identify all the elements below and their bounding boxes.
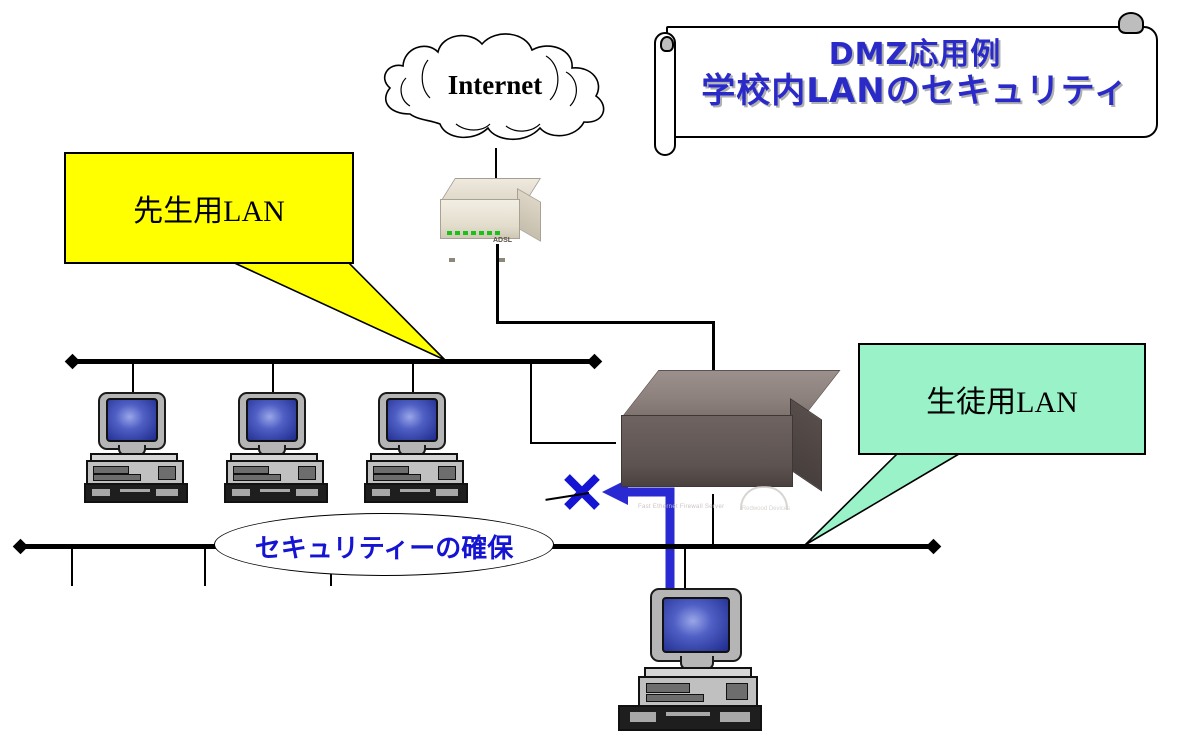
- router-led-2: [455, 231, 460, 235]
- firewall-front-face: Redwood Devices Fast Ethernet Firewall S…: [621, 415, 793, 487]
- link-router-across: [496, 321, 715, 324]
- scroll-left-roll-cap-icon: [660, 36, 674, 52]
- drop-student-pc: [684, 546, 686, 592]
- student-lan-callout: 生徒用LAN: [858, 343, 1146, 455]
- drive-bay-1: [373, 466, 409, 474]
- teacher-lan-bus: [72, 359, 595, 364]
- internet-cloud: Internet: [370, 26, 620, 156]
- cloud-label: Internet: [370, 70, 620, 101]
- router-front-face: ADSL: [440, 199, 520, 239]
- router-led-7: [495, 231, 500, 235]
- keyboard-keys-right: [296, 489, 318, 496]
- teacher-pc-2: [224, 392, 328, 500]
- link-router-down: [496, 244, 499, 324]
- drive-bay-1: [93, 466, 129, 474]
- drive-bay-2: [233, 474, 281, 481]
- router-foot-1: [449, 258, 455, 262]
- computer-case: [638, 676, 758, 708]
- drop-teacher-bus-to-firewall: [530, 360, 532, 444]
- monitor-screen: [246, 398, 298, 442]
- student-bus-drop-2: [204, 546, 206, 586]
- keyboard-keys-mid: [666, 712, 710, 716]
- teacher-callout-label: 先生用LAN: [64, 186, 354, 230]
- title-scroll-banner: DMZ応用例 学校内LANのセキュリティ: [652, 14, 1170, 152]
- drive-bay-2: [373, 474, 421, 481]
- firewall-appliance: Redwood Devices Fast Ethernet Firewall S…: [613, 370, 823, 495]
- keyboard: [364, 483, 468, 503]
- monitor-screen: [662, 597, 730, 653]
- drive-bay-2: [93, 474, 141, 481]
- drive-bay-3: [158, 466, 176, 480]
- keyboard-keys-right: [720, 712, 750, 722]
- teacher-pc-1: [84, 392, 188, 500]
- internet-router: ADSL: [430, 178, 540, 248]
- monitor-screen: [386, 398, 438, 442]
- student-callout-label: 生徒用LAN: [858, 377, 1146, 421]
- firewall-logo-label: Redwood Devices: [736, 506, 796, 512]
- keyboard-keys-right: [436, 489, 458, 496]
- security-note-bubble: セキュリティーの確保: [214, 513, 554, 576]
- teacher-bus-end-right: [587, 354, 603, 370]
- keyboard-keys-left: [232, 489, 250, 496]
- title-text-block: DMZ応用例 学校内LANのセキュリティ: [682, 38, 1148, 111]
- keyboard-keys-left: [372, 489, 390, 496]
- router-foot-2: [499, 258, 505, 262]
- router-side-face: [517, 188, 541, 242]
- drive-bay-3: [438, 466, 456, 480]
- router-led-6: [487, 231, 492, 235]
- link-firewall-to-student-bus: [712, 494, 714, 546]
- diagram-canvas: DMZ応用例 学校内LANのセキュリティ Internet: [0, 0, 1180, 740]
- drive-bay-1: [233, 466, 269, 474]
- title-line-2: 学校内LANのセキュリティ: [682, 72, 1148, 111]
- keyboard-keys-left: [92, 489, 110, 496]
- router-led-4: [471, 231, 476, 235]
- link-teacher-bus-into-firewall: [530, 442, 616, 444]
- keyboard-keys-mid: [400, 489, 430, 492]
- keyboard-keys-mid: [260, 489, 290, 492]
- student-bus-drop-1: [71, 546, 73, 586]
- keyboard: [224, 483, 328, 503]
- security-note-label: セキュリティーの確保: [215, 528, 553, 565]
- router-led-1: [447, 231, 452, 235]
- keyboard: [618, 705, 762, 731]
- title-line-1: DMZ応用例: [682, 38, 1148, 72]
- keyboard: [84, 483, 188, 503]
- firewall-side-face: [790, 398, 822, 492]
- student-pc: [600, 588, 770, 728]
- keyboard-keys-mid: [120, 489, 150, 492]
- keyboard-keys-left: [630, 712, 656, 722]
- keyboard-keys-right: [156, 489, 178, 496]
- teacher-pc-3: [364, 392, 468, 500]
- scroll-right-roll-icon: [1118, 12, 1144, 34]
- drive-bay-3: [298, 466, 316, 480]
- drive-bay-2: [646, 694, 704, 702]
- drive-bay-1: [646, 683, 690, 693]
- router-led-3: [463, 231, 468, 235]
- firewall-model-label: Fast Ethernet Firewall Server: [638, 504, 724, 510]
- drive-bay-3: [726, 683, 748, 700]
- router-brand-label: ADSL: [493, 237, 512, 244]
- router-led-5: [479, 231, 484, 235]
- student-bus-end-left: [13, 539, 29, 555]
- monitor-screen: [106, 398, 158, 442]
- teacher-lan-callout: 先生用LAN: [64, 152, 354, 264]
